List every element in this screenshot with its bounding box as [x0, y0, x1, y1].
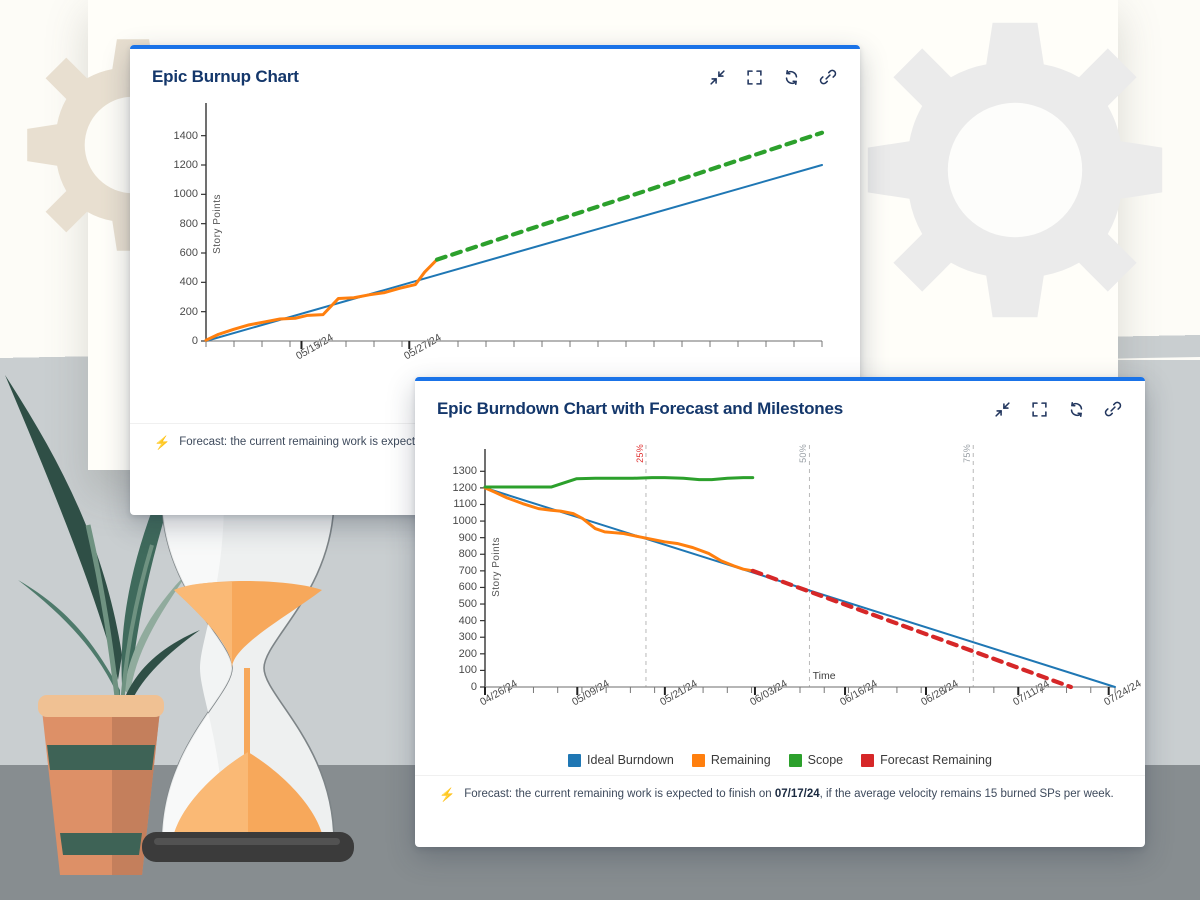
legend-item[interactable]: Ideal Burndown: [568, 753, 674, 767]
forecast-date: 07/17/24: [775, 788, 820, 800]
legend-swatch: [789, 754, 802, 767]
burnup-forecast-prefix: Forecast: the current remaining work is …: [179, 436, 421, 448]
forecast-suffix: , if the average velocity remains 15 bur…: [820, 788, 1114, 800]
series-remaining: [206, 260, 437, 341]
burndown-plot[interactable]: 0100200300400500600700800900100011001200…: [429, 431, 1131, 751]
burnup-card-actions: [707, 67, 838, 87]
refresh-icon[interactable]: [781, 67, 801, 87]
collapse-arrows-icon[interactable]: [707, 67, 727, 87]
legend-swatch: [861, 754, 874, 767]
legend-swatch: [692, 754, 705, 767]
series-forecast: [437, 133, 822, 260]
legend-label: Ideal Burndown: [587, 753, 674, 767]
collapse-arrows-icon[interactable]: [992, 399, 1012, 419]
legend-label: Remaining: [711, 753, 771, 767]
burnup-card-title: Epic Burnup Chart: [152, 67, 299, 87]
y-axis-title: Story Points: [212, 194, 223, 254]
series-scope: [485, 478, 753, 487]
x-axis-title: Time: [813, 670, 836, 682]
screenshot-root: Epic Burnup Chart: [0, 0, 1200, 900]
burnup-plot-svg: [144, 99, 846, 399]
y-axis-title: Story Points: [491, 537, 502, 597]
burnup-card-header: Epic Burnup Chart: [130, 49, 860, 93]
hourglass-illustration: [128, 470, 368, 870]
legend-swatch: [568, 754, 581, 767]
lightning-bolt-icon: ⚡: [154, 435, 170, 451]
legend-item[interactable]: Forecast Remaining: [861, 753, 992, 767]
gear-large-icon: [855, 10, 1175, 330]
burndown-forecast-text: Forecast: the current remaining work is …: [464, 787, 1113, 803]
burndown-plot-svg: [429, 431, 1131, 751]
burndown-card-title: Epic Burndown Chart with Forecast and Mi…: [437, 399, 843, 419]
series-forecast-remaining: [753, 571, 1071, 687]
fullscreen-icon[interactable]: [1029, 399, 1049, 419]
burndown-legend: Ideal BurndownRemainingScopeForecast Rem…: [415, 753, 1145, 767]
legend-label: Scope: [808, 753, 843, 767]
burndown-card-actions: [992, 399, 1123, 419]
burnup-forecast-text: Forecast: the current remaining work is …: [179, 435, 421, 451]
burndown-card-header: Epic Burndown Chart with Forecast and Mi…: [415, 381, 1145, 425]
series-ideal-burnup: [206, 165, 822, 341]
milestone-label[interactable]: 75%: [962, 444, 972, 463]
link-icon[interactable]: [818, 67, 838, 87]
lightning-bolt-icon: ⚡: [439, 787, 455, 803]
fullscreen-icon[interactable]: [744, 67, 764, 87]
burndown-chart-area: 0100200300400500600700800900100011001200…: [415, 425, 1145, 751]
milestone-label[interactable]: 25%: [635, 444, 645, 463]
forecast-prefix: Forecast: the current remaining work is …: [464, 788, 775, 800]
burnup-plot[interactable]: 020040060080010001200140005/15/2405/27/2…: [144, 99, 846, 399]
burndown-chart-card: Epic Burndown Chart with Forecast and Mi…: [415, 377, 1145, 847]
burnup-chart-area: 020040060080010001200140005/15/2405/27/2…: [130, 93, 860, 399]
burndown-card-footer: ⚡ Forecast: the current remaining work i…: [415, 775, 1145, 815]
link-icon[interactable]: [1103, 399, 1123, 419]
legend-item[interactable]: Remaining: [692, 753, 771, 767]
refresh-icon[interactable]: [1066, 399, 1086, 419]
legend-label: Forecast Remaining: [880, 753, 992, 767]
legend-item[interactable]: Scope: [789, 753, 843, 767]
milestone-label[interactable]: 50%: [798, 444, 808, 463]
